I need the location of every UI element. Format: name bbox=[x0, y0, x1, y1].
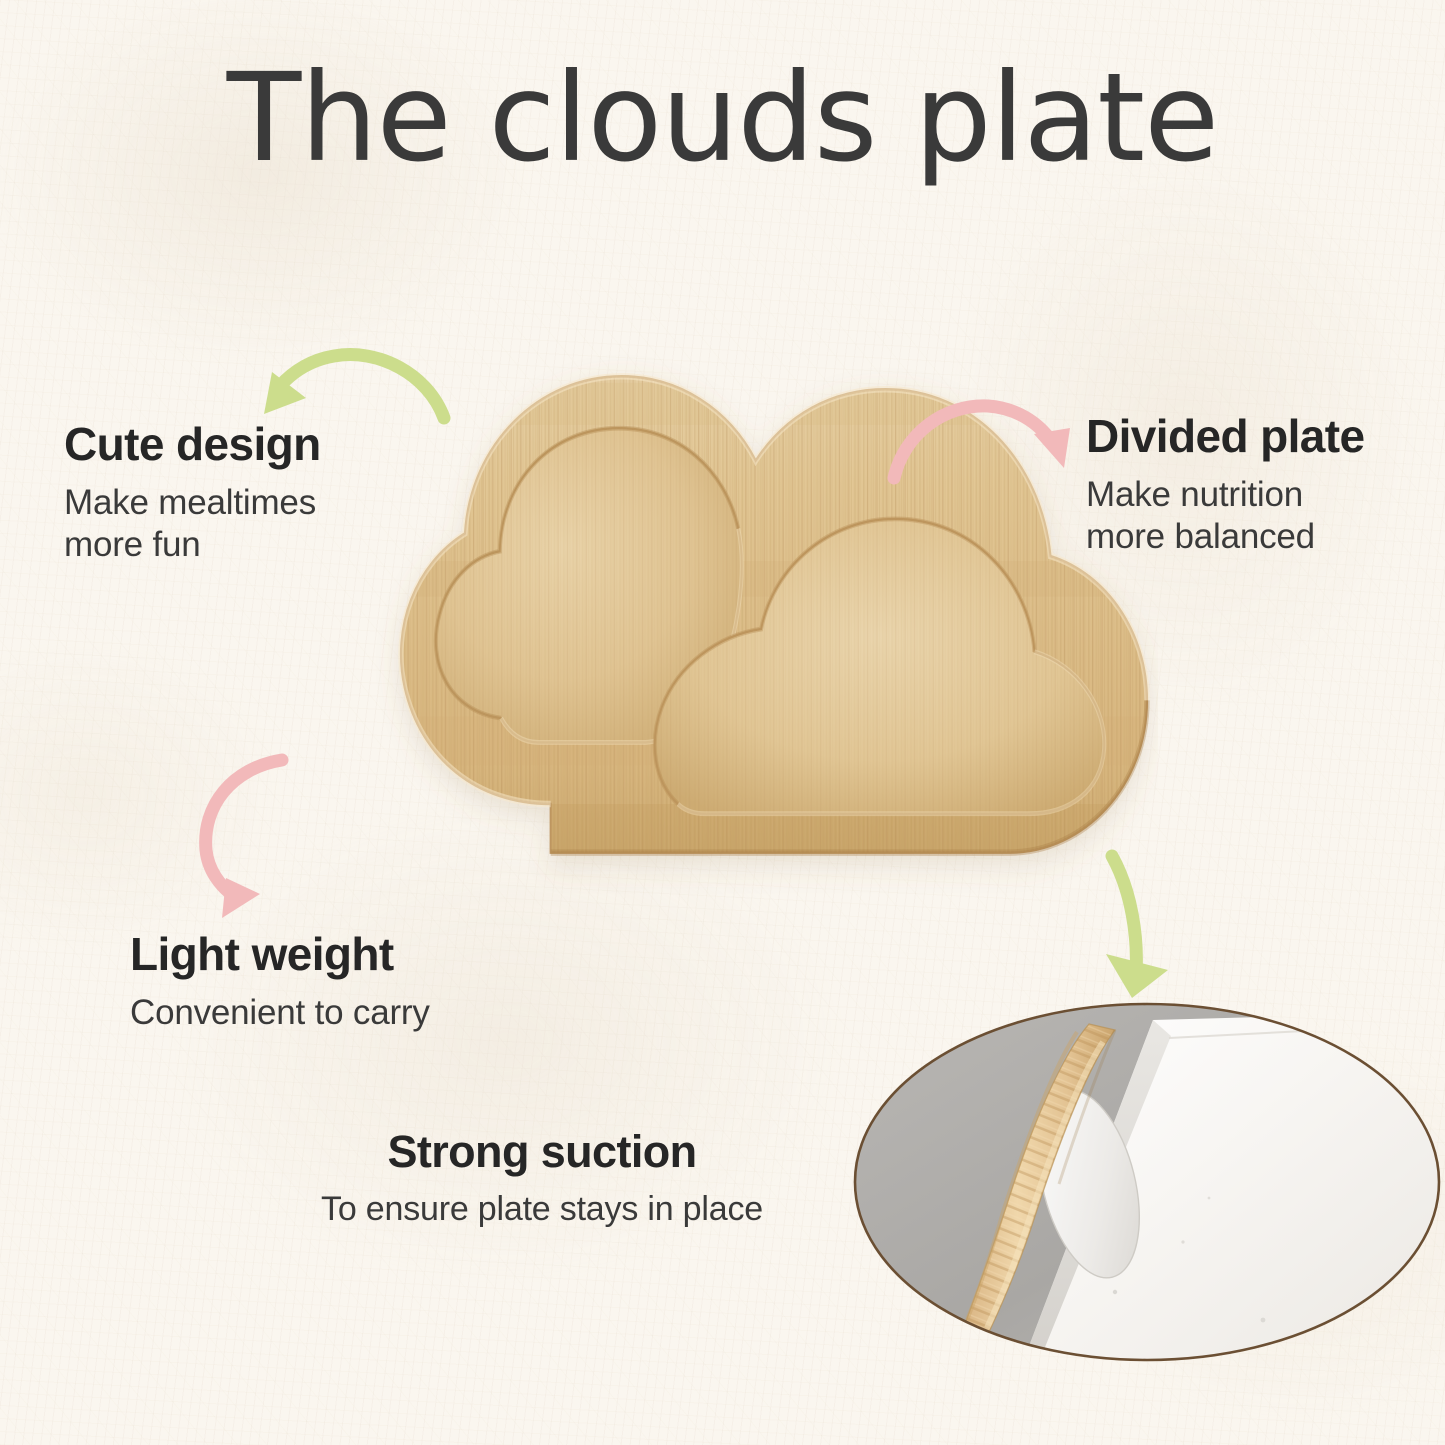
page-title: The clouds plate bbox=[0, 56, 1445, 180]
feature-title: Light weight bbox=[130, 930, 430, 980]
feature-light-weight: Light weight Convenient to carry bbox=[130, 930, 430, 1034]
feature-title: Divided plate bbox=[1086, 412, 1365, 462]
feature-strong-suction: Strong suction To ensure plate stays in … bbox=[272, 1128, 812, 1230]
feature-subtitle-line2: more fun bbox=[64, 525, 201, 564]
curved-arrow-down-right-icon bbox=[876, 386, 1076, 498]
feature-subtitle-line1: Make mealtimes bbox=[64, 483, 316, 522]
infographic-page: The clouds plate bbox=[0, 0, 1445, 1445]
feature-subtitle: Make nutrition more balanced bbox=[1086, 474, 1365, 559]
curved-arrow-down-icon bbox=[1076, 846, 1238, 1028]
feature-title: Strong suction bbox=[272, 1128, 812, 1177]
feature-divided-plate: Divided plate Make nutrition more balanc… bbox=[1086, 412, 1365, 559]
curved-arrow-down-icon bbox=[186, 744, 318, 926]
feature-subtitle-line1: Make nutrition bbox=[1086, 475, 1303, 514]
feature-subtitle: To ensure plate stays in place bbox=[272, 1189, 812, 1230]
feature-subtitle: Convenient to carry bbox=[130, 992, 430, 1035]
feature-subtitle-line2: more balanced bbox=[1086, 517, 1315, 556]
feature-cute-design: Cute design Make mealtimes more fun bbox=[64, 420, 321, 567]
suction-cup-detail-photo bbox=[853, 1002, 1441, 1362]
feature-title: Cute design bbox=[64, 420, 321, 470]
feature-subtitle: Make mealtimes more fun bbox=[64, 482, 321, 567]
